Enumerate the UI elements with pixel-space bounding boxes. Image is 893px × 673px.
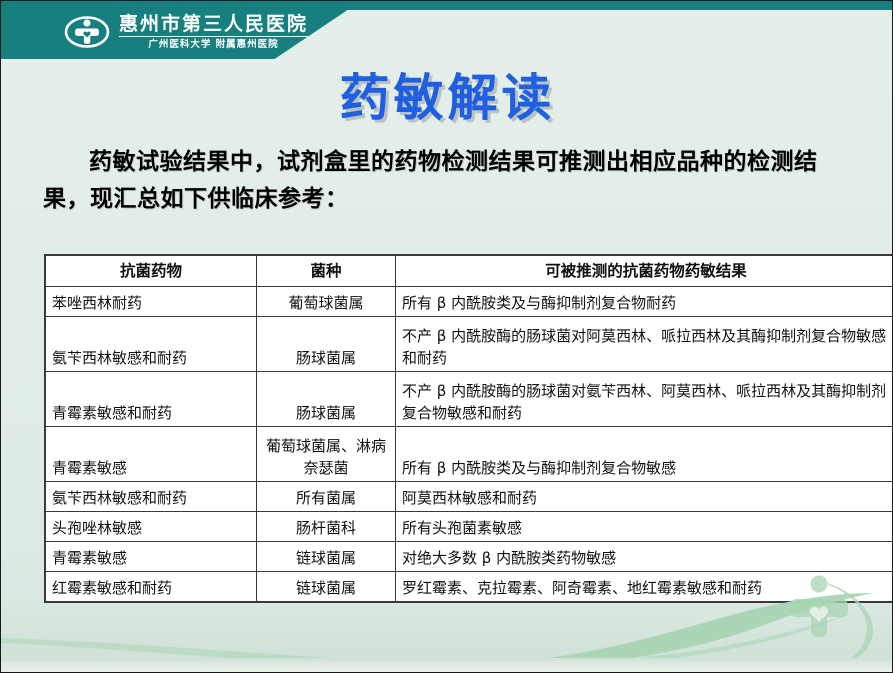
table-row: 青霉素敏感链球菌属对绝大多数 β 内酰胺类药物敏感 xyxy=(46,542,893,572)
cell-result: 阿莫西林敏感和耐药 xyxy=(396,482,893,512)
hospital-affiliation: 广州医科大学 附属惠州医院 xyxy=(148,40,278,50)
cell-drug: 青霉素敏感和耐药 xyxy=(46,372,257,427)
cell-germ: 葡萄球菌属、淋病奈瑟菌 xyxy=(257,427,396,482)
cell-germ: 肠球菌属 xyxy=(257,317,396,372)
presentation-slide: 惠州市第三人民医院 广州医科大学 附属惠州医院 药敏解读 药敏试验结果中，试剂盒… xyxy=(0,0,893,673)
table-row: 氨苄西林敏感和耐药所有菌属阿莫西林敏感和耐药 xyxy=(46,482,893,512)
hospital-logo-text: 惠州市第三人民医院 广州医科大学 附属惠州医院 xyxy=(119,15,308,50)
cell-drug: 红霉素敏感和耐药 xyxy=(46,572,257,602)
cell-germ: 肠杆菌科 xyxy=(257,512,396,542)
table-row: 头孢唑林敏感肠杆菌科所有头孢菌素敏感 xyxy=(46,512,893,542)
table-row: 青霉素敏感和耐药肠球菌属不产 β 内酰胺酶的肠球菌对氨苄西林、阿莫西林、哌拉西林… xyxy=(46,372,893,427)
cell-drug: 苯唑西林耐药 xyxy=(46,287,257,317)
cell-drug: 氨苄西林敏感和耐药 xyxy=(46,317,257,372)
table-body: 苯唑西林耐药葡萄球菌属所有 β 内酰胺类及与酶抑制剂复合物耐药氨苄西林敏感和耐药… xyxy=(46,287,893,602)
cell-result: 罗红霉素、克拉霉素、阿奇霉素、地红霉素敏感和耐药 xyxy=(396,572,893,602)
table-header-row: 抗菌药物 菌种 可被推测的抗菌药物药敏结果 xyxy=(46,256,893,287)
table-row: 红霉素敏感和耐药链球菌属罗红霉素、克拉霉素、阿奇霉素、地红霉素敏感和耐药 xyxy=(46,572,893,602)
page-title: 药敏解读 xyxy=(1,58,893,130)
cell-drug: 青霉素敏感 xyxy=(46,542,257,572)
cell-drug: 氨苄西林敏感和耐药 xyxy=(46,482,257,512)
hospital-name: 惠州市第三人民医院 xyxy=(119,15,308,37)
cell-result: 不产 β 内酰胺酶的肠球菌对氨苄西林、阿莫西林、哌拉西林及其酶抑制剂复合物敏感和… xyxy=(396,372,893,427)
body-paragraph: 药敏试验结果中，试剂盒里的药物检测结果可推测出相应品种的检测结果，现汇总如下供临… xyxy=(43,143,853,218)
cell-germ: 肠球菌属 xyxy=(257,372,396,427)
column-header-germ: 菌种 xyxy=(257,256,396,287)
table-row: 青霉素敏感葡萄球菌属、淋病奈瑟菌所有 β 内酰胺类及与酶抑制剂复合物敏感 xyxy=(46,427,893,482)
cell-result: 所有头孢菌素敏感 xyxy=(396,512,893,542)
cell-result: 所有 β 内酰胺类及与酶抑制剂复合物耐药 xyxy=(396,287,893,317)
column-header-drug: 抗菌药物 xyxy=(46,256,257,287)
column-header-result: 可被推测的抗菌药物药敏结果 xyxy=(396,256,893,287)
table-row: 氨苄西林敏感和耐药肠球菌属不产 β 内酰胺酶的肠球菌对阿莫西林、哌拉西林及其酶抑… xyxy=(46,317,893,372)
cell-result: 所有 β 内酰胺类及与酶抑制剂复合物敏感 xyxy=(396,427,893,482)
hospital-person-heart-logo-icon xyxy=(64,15,110,49)
table-row: 苯唑西林耐药葡萄球菌属所有 β 内酰胺类及与酶抑制剂复合物耐药 xyxy=(46,287,893,317)
cell-drug: 青霉素敏感 xyxy=(46,427,257,482)
cell-germ: 葡萄球菌属 xyxy=(257,287,396,317)
cell-germ: 所有菌属 xyxy=(257,482,396,512)
antibiotic-inference-table: 抗菌药物 菌种 可被推测的抗菌药物药敏结果 苯唑西林耐药葡萄球菌属所有 β 内酰… xyxy=(45,255,893,602)
cell-result: 不产 β 内酰胺酶的肠球菌对阿莫西林、哌拉西林及其酶抑制剂复合物敏感和耐药 xyxy=(396,317,893,372)
table-header: 抗菌药物 菌种 可被推测的抗菌药物药敏结果 xyxy=(46,256,893,287)
cell-germ: 链球菌属 xyxy=(257,542,396,572)
cell-drug: 头孢唑林敏感 xyxy=(46,512,257,542)
cell-germ: 链球菌属 xyxy=(257,572,396,602)
hospital-logo: 惠州市第三人民医院 广州医科大学 附属惠州医院 xyxy=(64,10,308,54)
cell-result: 对绝大多数 β 内酰胺类药物敏感 xyxy=(396,542,893,572)
